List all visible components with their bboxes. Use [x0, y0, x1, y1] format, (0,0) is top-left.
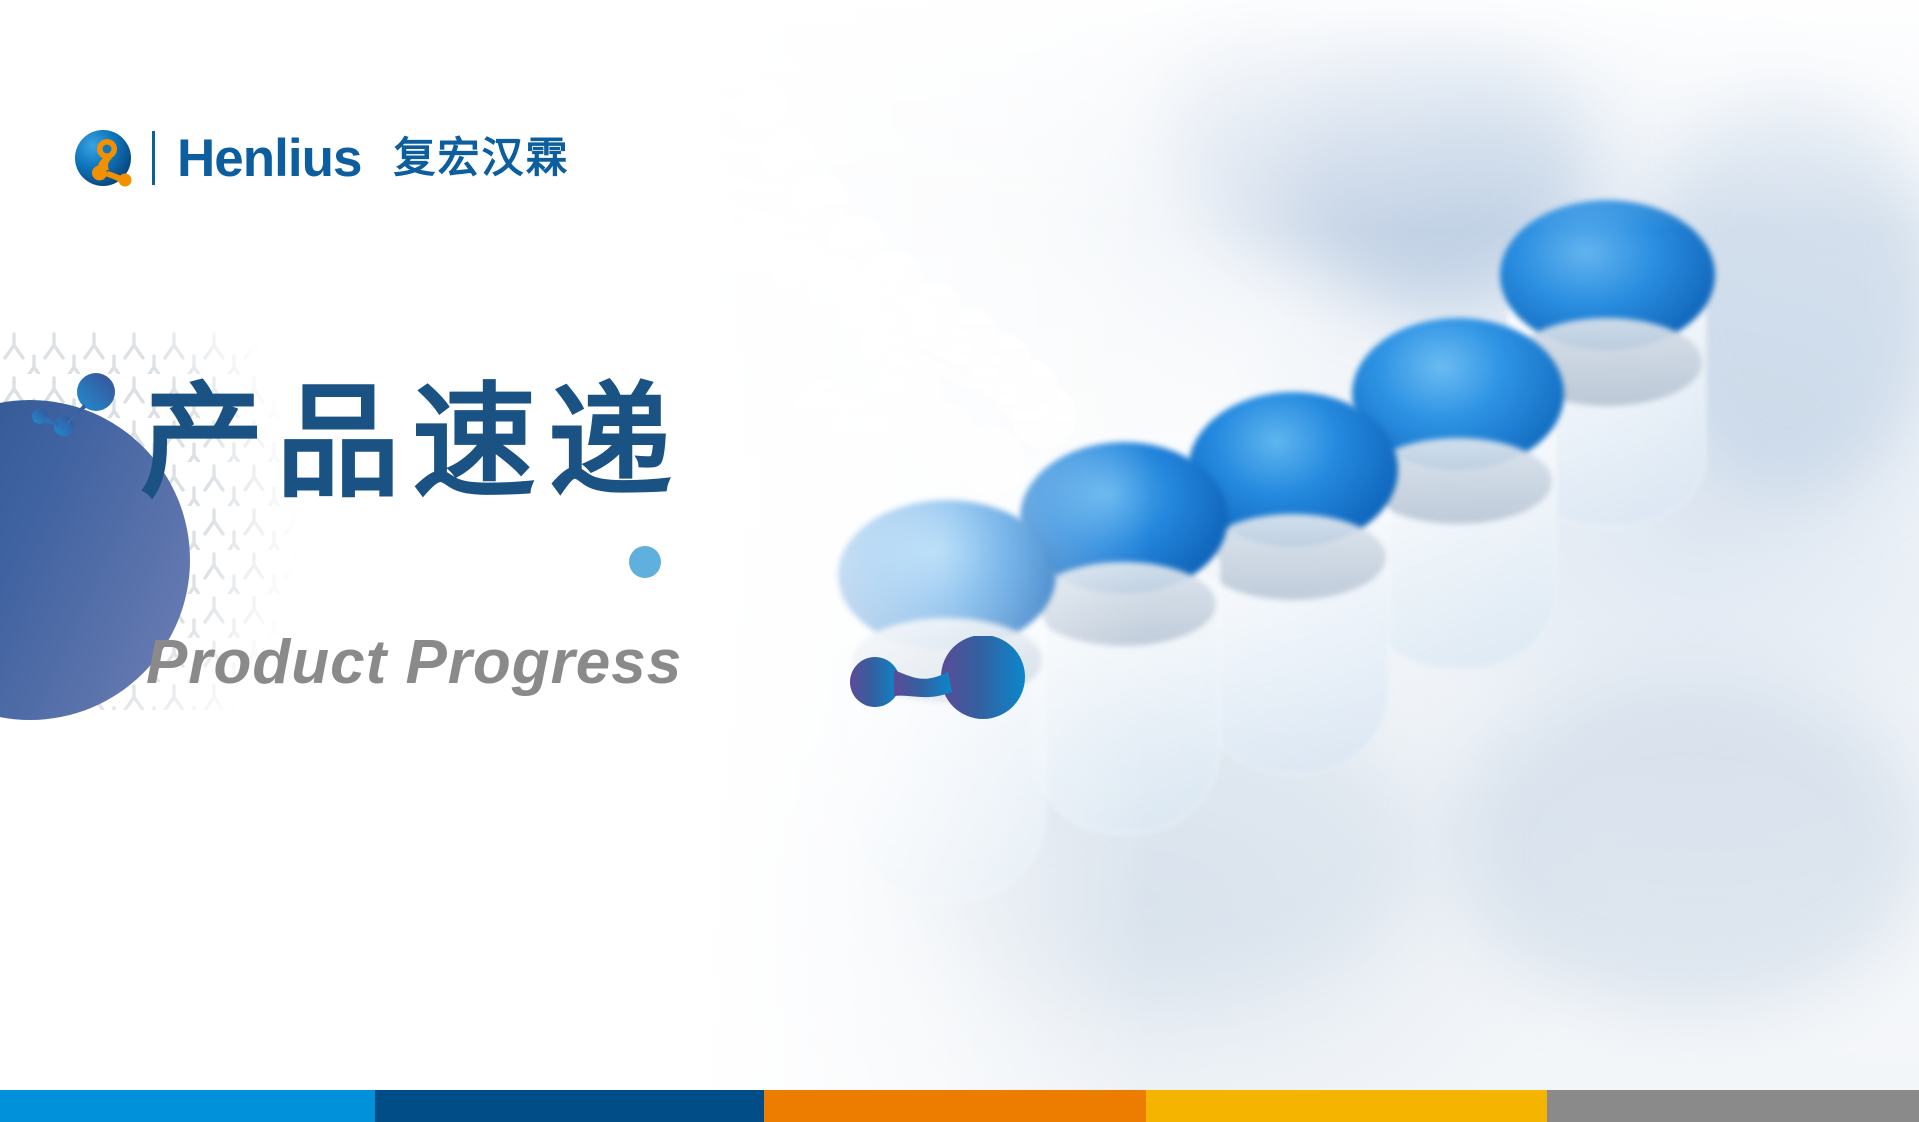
- color-bar-segment-bright-blue: [0, 1090, 375, 1122]
- decorative-dot: [629, 546, 661, 578]
- page-subtitle: Product Progress: [146, 632, 682, 694]
- color-bar-segment-deep-blue: [375, 1090, 764, 1122]
- color-bar-segment-amber: [1146, 1090, 1547, 1122]
- molecule-icon: [848, 636, 1028, 722]
- logo-wordmark: Henlius: [177, 132, 361, 185]
- bottom-color-bar: [0, 1090, 1919, 1122]
- color-bar-segment-gray: [1547, 1090, 1919, 1122]
- photo-top-fade: [0, 0, 1919, 230]
- molecule-icon: [28, 372, 138, 464]
- slide-root: Henlius 复宏汉霖 产品速递 Product Progress: [0, 0, 1919, 1122]
- color-bar-segment-orange: [764, 1090, 1146, 1122]
- page-title: 产品速递: [140, 374, 684, 513]
- logo-divider: [152, 131, 155, 185]
- henlius-logo-mark-icon: [74, 129, 132, 187]
- brand-logo[interactable]: Henlius 复宏汉霖: [74, 127, 569, 189]
- photo-blur-blob: [1450, 680, 1919, 1010]
- logo-chinese-name: 复宏汉霖: [393, 137, 569, 179]
